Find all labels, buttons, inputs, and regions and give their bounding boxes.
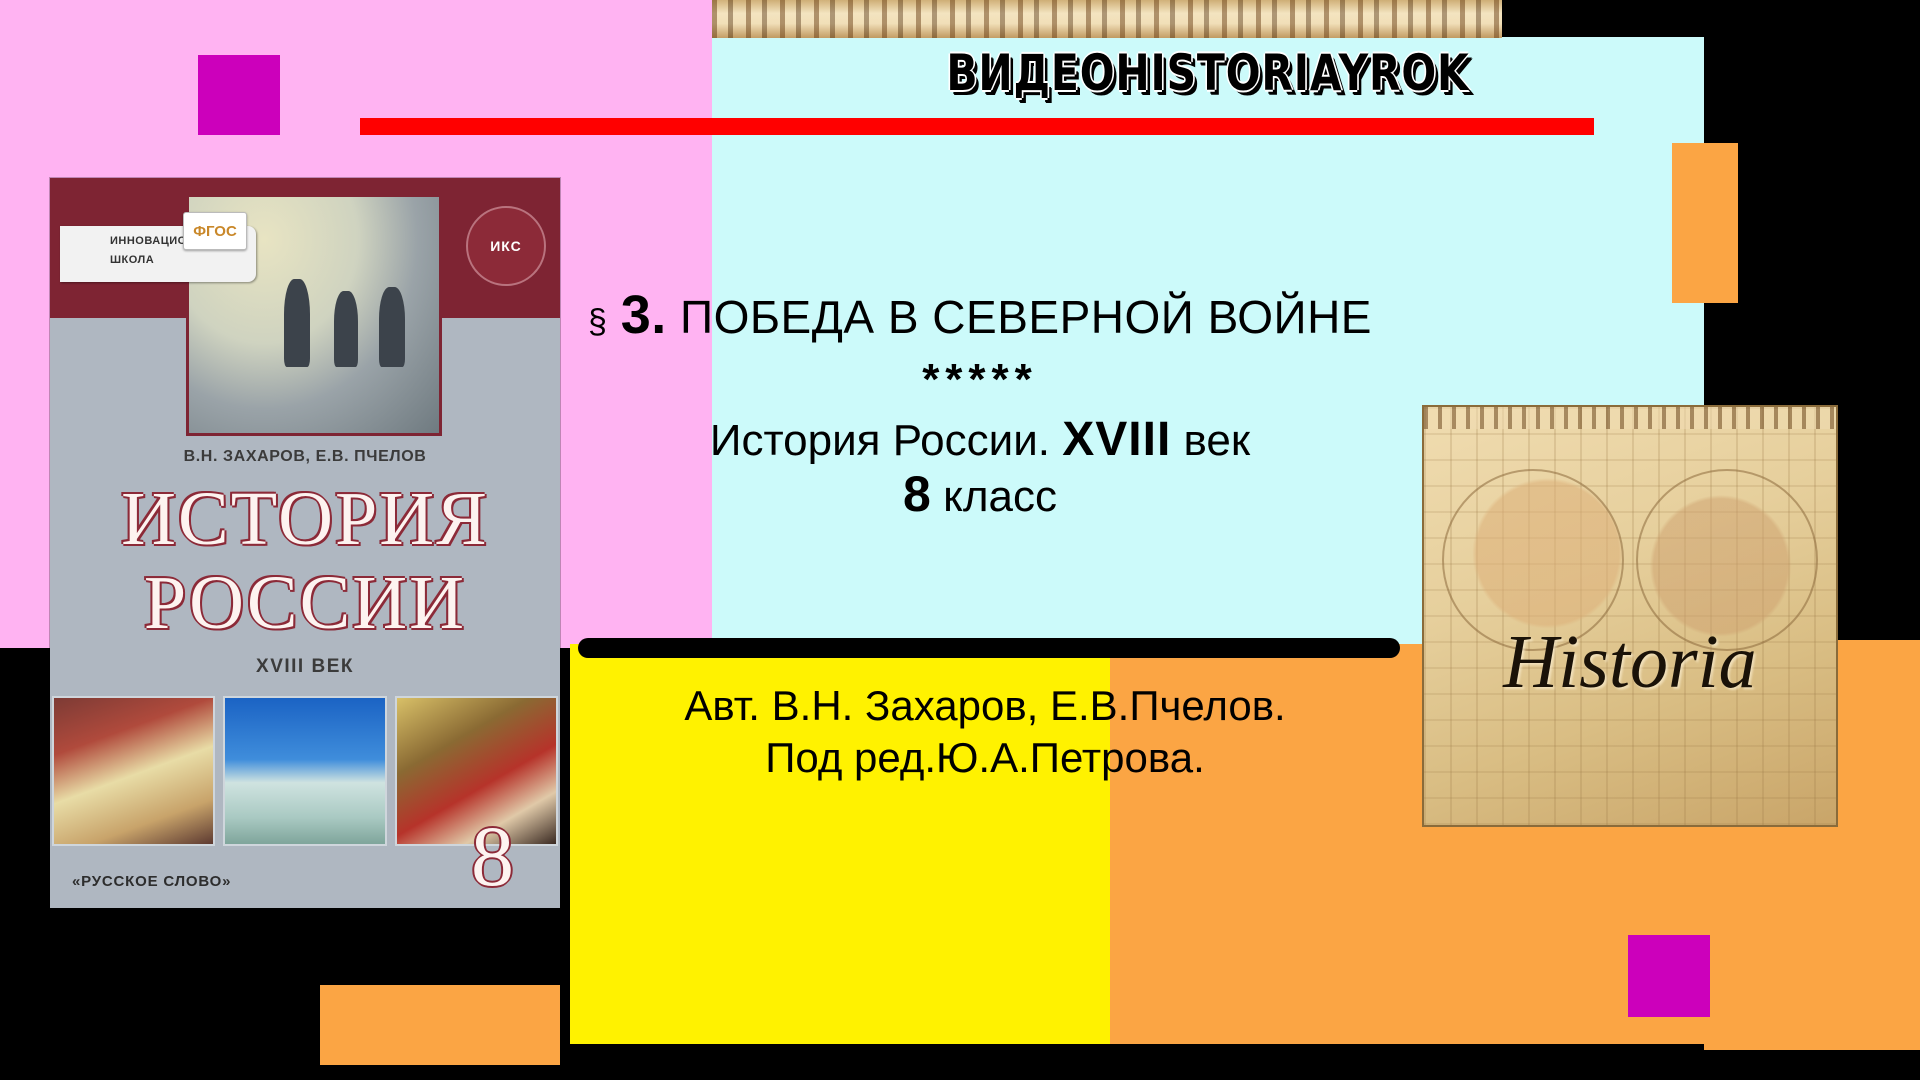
historia-word: Historia [1424, 619, 1836, 706]
background-block-orange-top-right [1672, 143, 1738, 303]
slide-canvas: ВИДЕОHISTORIAYROK § 3. ПОБЕДА В СЕВЕРНОЙ… [0, 0, 1920, 1080]
cover-title-line-2: РОССИИ [50, 560, 560, 647]
author-line-2: Под ред.Ю.А.Петрова. [570, 732, 1400, 784]
cover-badge-line-2: ШКОЛА [110, 254, 154, 266]
grade-line: 8 класс [560, 466, 1400, 522]
section-sign: § [588, 303, 607, 341]
star-separator: ***** [560, 355, 1400, 404]
cover-fgos-label: ФГОС [183, 212, 247, 250]
background-block-magenta-top-left [198, 55, 280, 135]
author-credits: Авт. В.Н. Захаров, Е.В.Пчелов. Под ред.Ю… [570, 680, 1400, 784]
author-line-1: Авт. В.Н. Захаров, Е.В.Пчелов. [570, 680, 1400, 732]
background-block-magenta-bottom-right [1628, 935, 1710, 1017]
parchment-strip-bottom [430, 1022, 1920, 1080]
cover-seal-icon: ИКС [466, 206, 546, 286]
grade-word: класс [943, 472, 1057, 521]
lesson-title: § 3. ПОБЕДА В СЕВЕРНОЙ ВОЙНЕ [560, 285, 1400, 345]
parchment-strip-top [712, 0, 1502, 38]
course-prefix: История России. [710, 416, 1050, 465]
cover-photo-winter-palace [223, 696, 386, 846]
course-line: История России. XVIII век [560, 413, 1400, 467]
red-divider-rule [360, 118, 1594, 135]
grade-number: 8 [903, 466, 931, 522]
header-brand-title: ВИДЕОHISTORIAYROK [801, 44, 1614, 102]
course-century-word: век [1184, 416, 1251, 465]
lesson-title-text: ПОБЕДА В СЕВЕРНОЙ ВОЙНЕ [680, 291, 1372, 343]
cover-photo-catherine [52, 696, 215, 846]
cover-grade-number: 8 [471, 806, 514, 906]
cover-publisher-label: «РУССКОЕ СЛОВО» [72, 873, 231, 890]
cover-title-line-1: ИСТОРИЯ [50, 476, 560, 563]
section-number: 3. [621, 285, 667, 345]
cover-authors: В.Н. ЗАХАРОВ, Е.В. ПЧЕЛОВ [50, 448, 560, 466]
black-divider-rule [578, 638, 1400, 658]
historia-top-band [1424, 407, 1836, 429]
title-block: § 3. ПОБЕДА В СЕВЕРНОЙ ВОЙНЕ ***** Истор… [560, 285, 1400, 522]
course-century: XVIII [1062, 413, 1171, 466]
cover-century-label: XVIII ВЕК [50, 656, 560, 678]
historia-map-image: Historia [1422, 405, 1838, 827]
textbook-cover-image: ИННОВАЦИОННАЯ ШКОЛА ФГОС ИКС В.Н. ЗАХАРО… [50, 178, 560, 908]
